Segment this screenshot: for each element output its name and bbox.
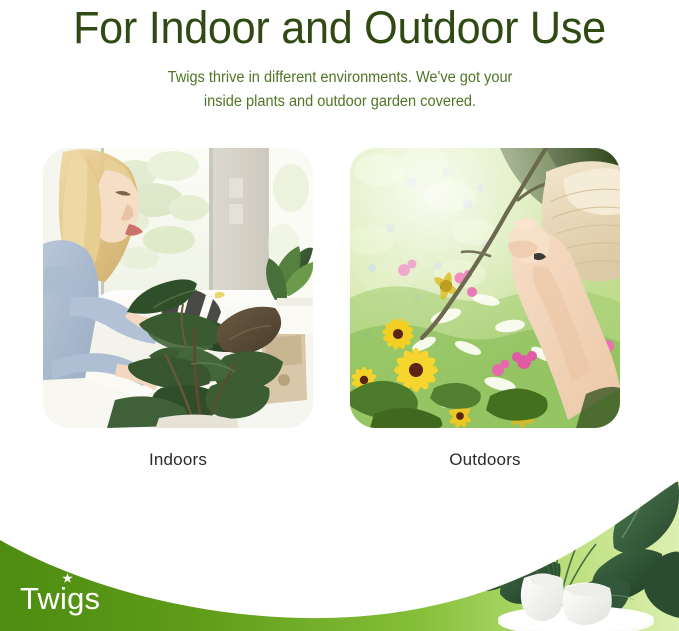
banner-wave-graphic bbox=[0, 478, 679, 631]
subtitle-line-1: Twigs thrive in different environments. … bbox=[133, 66, 547, 90]
caption-indoors: Indoors bbox=[43, 450, 313, 470]
page-title: For Indoor and Outdoor Use bbox=[14, 2, 666, 54]
brand-name: Twigs bbox=[20, 581, 100, 616]
star-icon bbox=[62, 573, 73, 584]
photo-card-indoors bbox=[43, 148, 313, 428]
outdoor-garden-photo bbox=[350, 148, 620, 428]
promo-infographic: For Indoor and Outdoor Use Twigs thrive … bbox=[0, 0, 679, 631]
indoor-plant-photo bbox=[43, 148, 313, 428]
subtitle-line-2: inside plants and outdoor garden covered… bbox=[133, 90, 547, 114]
brand-wordmark: Twigs bbox=[20, 582, 100, 616]
page-subtitle: Twigs thrive in different environments. … bbox=[133, 66, 547, 114]
brand-banner bbox=[0, 478, 679, 631]
photo-card-row bbox=[0, 148, 679, 430]
photo-card-outdoors bbox=[350, 148, 620, 428]
caption-outdoors: Outdoors bbox=[350, 450, 620, 470]
